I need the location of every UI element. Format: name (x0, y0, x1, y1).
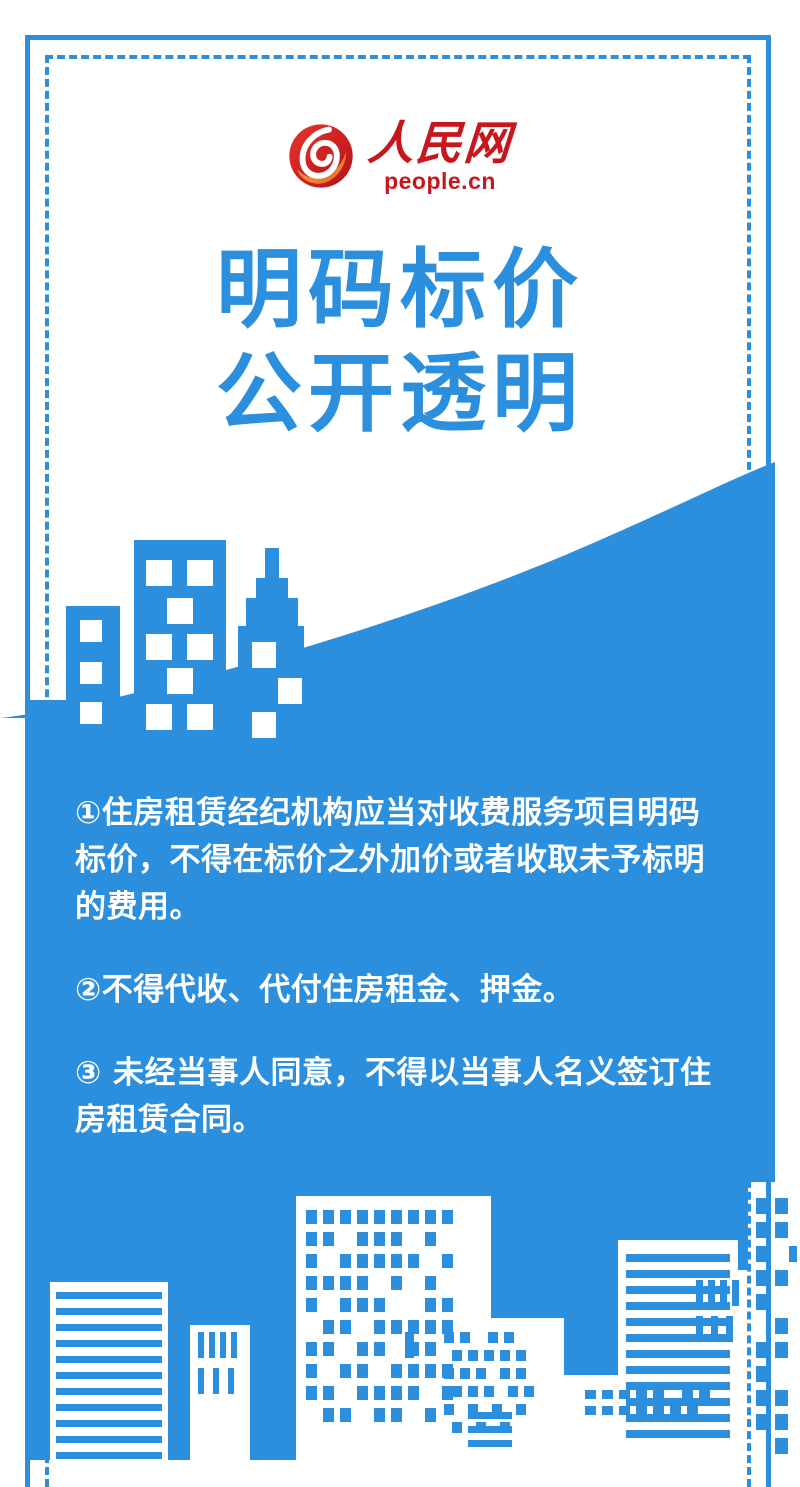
title-line-2: 公开透明 (0, 342, 800, 446)
city-skyline-top (60, 528, 310, 750)
rule-item-1: ①住房租赁经纪机构应当对收费服务项目明码标价，不得在标价之外加价或者收取未予标明… (75, 790, 715, 931)
logo-domain: people.cn (384, 170, 496, 193)
page-title: 明码标价 公开透明 (0, 238, 800, 446)
rule-item-2: ②不得代收、代付住房租金、押金。 (75, 967, 715, 1014)
poster-canvas: 人民网 people.cn 明码标价 公开透明 ①住房租赁经纪机构应当对收费服务… (0, 0, 800, 1487)
site-logo[interactable]: 人民网 people.cn (0, 110, 800, 202)
logo-wordmark: 人民网 people.cn (368, 120, 512, 193)
title-line-1: 明码标价 (0, 238, 800, 342)
rules-list: ①住房租赁经纪机构应当对收费服务项目明码标价，不得在标价之外加价或者收取未予标明… (75, 790, 715, 1180)
logo-chinese-name: 人民网 (366, 120, 513, 166)
rule-item-3: ③ 未经当事人同意，不得以当事人名义签订住房租赁合同。 (75, 1050, 715, 1144)
people-cn-globe-icon (288, 123, 354, 189)
